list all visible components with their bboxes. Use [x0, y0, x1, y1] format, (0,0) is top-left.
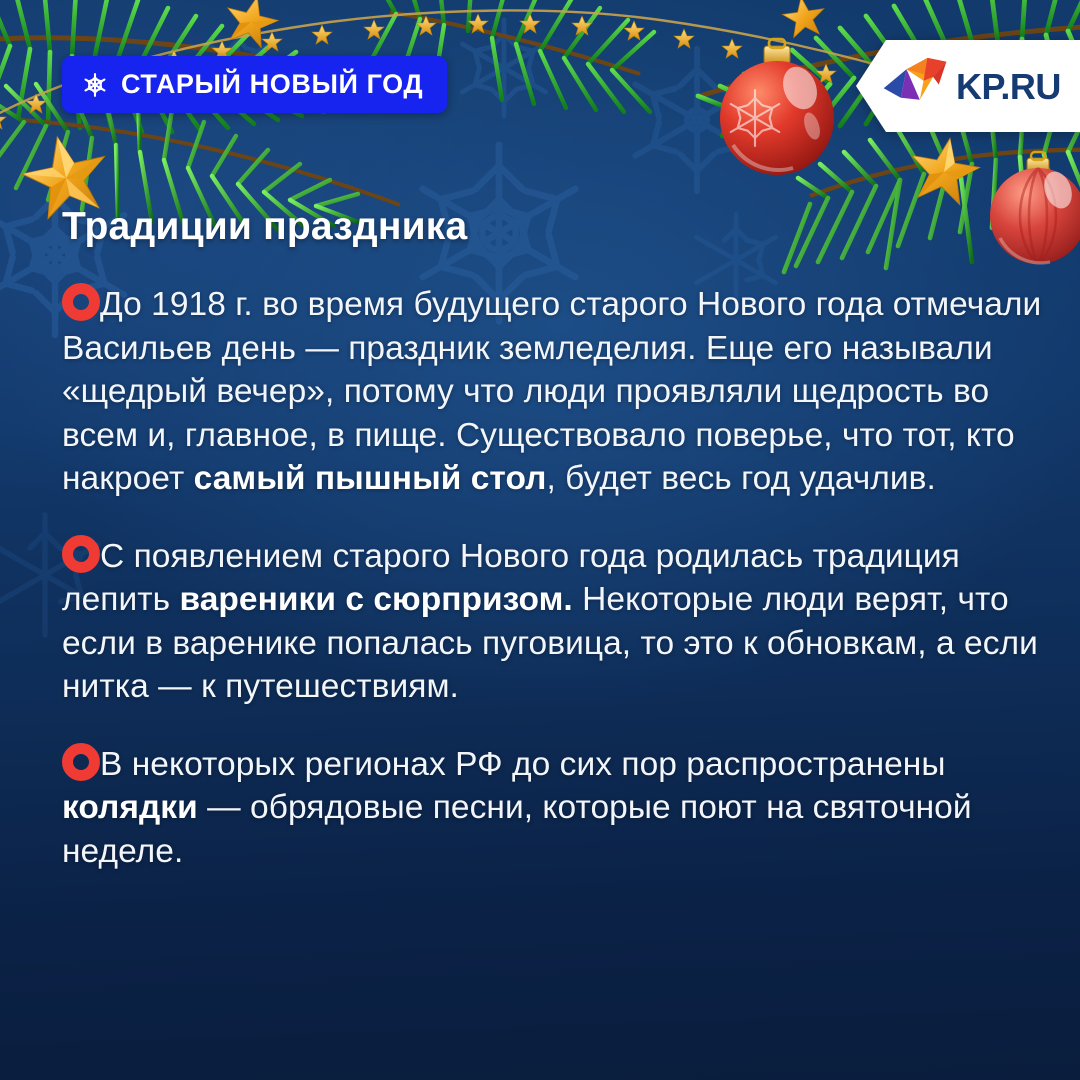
infographic-card: СТАРЫЙ НОВЫЙ ГОД KP.RU Традиции праздник… — [0, 0, 1080, 1080]
emphasis-text: вареники с сюрпризом. — [180, 581, 573, 618]
ring-bullet-icon — [62, 743, 100, 781]
bullet-paragraph: В некоторых регионах РФ до сих пор распр… — [62, 743, 1062, 874]
badge-label: СТАРЫЙ НОВЫЙ ГОД — [121, 71, 423, 98]
snowflake-watermark — [444, 8, 564, 128]
logo-text: KP.RU — [956, 66, 1061, 107]
bullet-paragraph: С появлением старого Нового года родилас… — [62, 535, 1062, 709]
content-area: Традиции праздника До 1918 г. во время б… — [62, 205, 1062, 874]
snowflake-watermark — [612, 35, 782, 205]
emphasis-text: самый пышный стол — [194, 460, 547, 497]
bullet-paragraph: До 1918 г. во время будущего старого Нов… — [62, 283, 1062, 501]
body-text: , будет весь год удачлив. — [546, 460, 935, 497]
paragraph-list: До 1918 г. во время будущего старого Нов… — [62, 283, 1062, 874]
kp-ru-logo[interactable]: KP.RU — [856, 40, 1080, 132]
ring-bullet-icon — [62, 535, 100, 573]
snowflake-icon — [82, 72, 108, 98]
category-badge[interactable]: СТАРЫЙ НОВЫЙ ГОД — [62, 56, 447, 113]
ring-bullet-icon — [62, 283, 100, 321]
page-title: Традиции праздника — [62, 205, 1062, 249]
body-text: В некоторых регионах РФ до сих пор распр… — [100, 746, 945, 783]
emphasis-text: колядки — [62, 789, 198, 826]
body-text: — обрядовые песни, которые поют на свято… — [62, 789, 972, 870]
